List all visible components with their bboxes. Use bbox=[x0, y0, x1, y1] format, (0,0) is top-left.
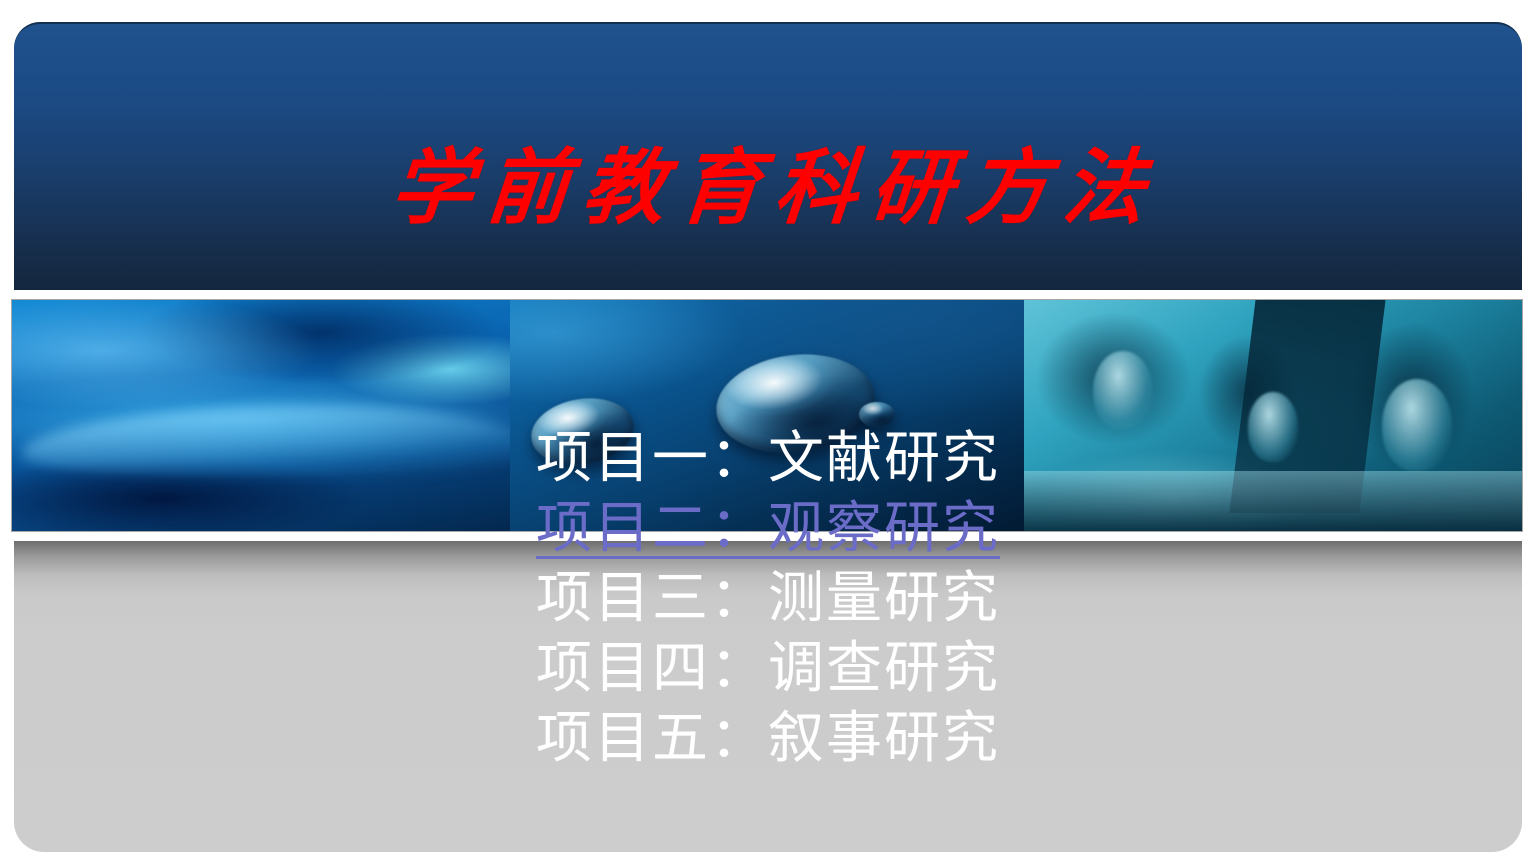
page-title: 学前教育科研方法 bbox=[14, 140, 1522, 236]
agenda-item-4: 项目四：调查研究 bbox=[0, 634, 1536, 704]
meeting-person-left bbox=[1093, 351, 1153, 430]
agenda-item-2-link[interactable]: 项目二：观察研究 bbox=[0, 494, 1536, 564]
agenda-item-1: 项目一：文献研究 bbox=[0, 424, 1536, 494]
title-banner-panel: 学前教育科研方法 bbox=[14, 22, 1522, 290]
agenda-item-3: 项目三：测量研究 bbox=[0, 564, 1536, 634]
presentation-slide: 学前教育科研方法 项目一：文献研究 项目二：观察研究 项目三：测量研究 项目四：… bbox=[0, 0, 1536, 864]
agenda-item-5: 项目五：叙事研究 bbox=[0, 704, 1536, 774]
agenda-list: 项目一：文献研究 项目二：观察研究 项目三：测量研究 项目四：调查研究 项目五：… bbox=[0, 424, 1536, 774]
